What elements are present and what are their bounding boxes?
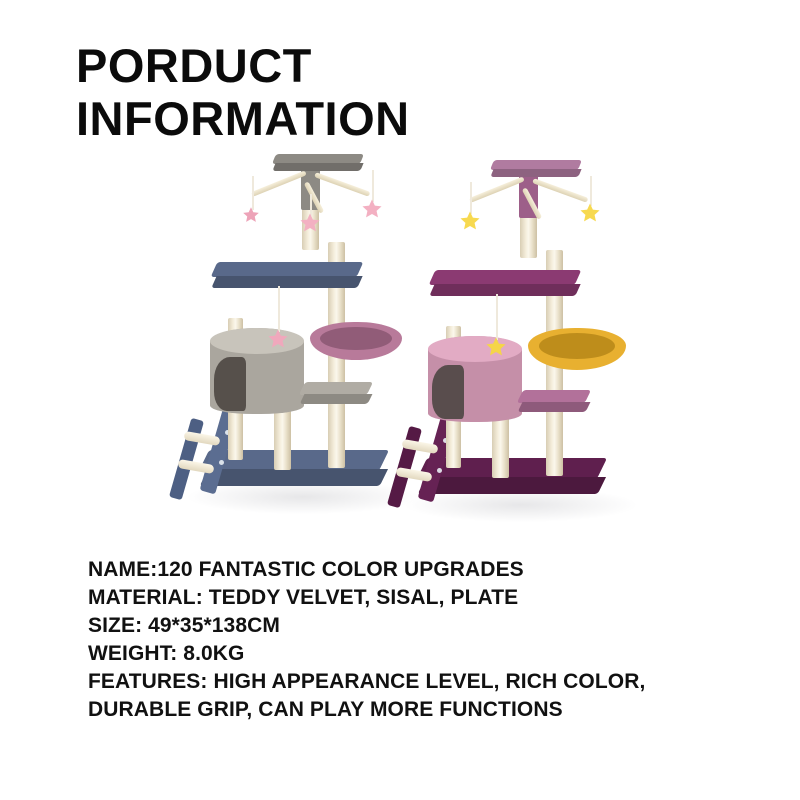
bowl-bed — [528, 328, 626, 370]
spec-line-name: NAME:120 FANTASTIC COLOR UPGRADES — [88, 556, 728, 584]
ladder-rail-outer — [169, 418, 204, 500]
toy-string — [496, 294, 498, 340]
spec-line-weight: WEIGHT: 8.0KG — [88, 640, 728, 668]
star-toy-yellow — [579, 202, 601, 224]
step-shelf — [520, 390, 588, 412]
page-title-line-1: PORDUCT — [76, 42, 736, 89]
star-toy-pink — [267, 328, 289, 350]
top-sisal-post — [520, 214, 537, 258]
spec-line-features: FEATURES: HIGH APPEARANCE LEVEL, RICH CO… — [88, 668, 728, 696]
step-shelf — [302, 382, 370, 404]
product-image — [0, 150, 800, 530]
ladder-screw — [219, 460, 224, 465]
toy-arm-right — [532, 178, 588, 203]
mid-shelf — [214, 262, 360, 288]
product-specs: NAME:120 FANTASTIC COLOR UPGRADES MATERI… — [88, 556, 728, 724]
toy-string — [252, 176, 254, 210]
star-toy-yellow — [485, 336, 507, 358]
spec-line-size: SIZE: 49*35*138CM — [88, 612, 728, 640]
spec-line-features-cont: DURABLE GRIP, CAN PLAY MORE FUNCTIONS — [88, 696, 728, 724]
ladder-screw — [437, 468, 442, 473]
condo-house — [210, 328, 304, 414]
condo-house — [428, 336, 522, 422]
star-toy-pink — [361, 198, 383, 220]
star-toy-yellow — [459, 210, 481, 232]
mid-shelf — [432, 270, 578, 296]
top-platform — [492, 160, 580, 177]
condo-entrance — [432, 365, 464, 418]
page-title-line-2: INFORMATION — [76, 95, 736, 142]
toy-arm-right — [314, 172, 370, 197]
star-toy-pink — [242, 206, 260, 224]
page-title: PORDUCT INFORMATION — [76, 42, 736, 142]
toy-string — [278, 286, 280, 332]
star-toy-pink — [299, 212, 321, 234]
hammock-bed — [310, 322, 402, 360]
toy-arm-left — [251, 170, 307, 196]
spec-line-material: MATERIAL: TEDDY VELVET, SISAL, PLATE — [88, 584, 728, 612]
toy-arm-left — [469, 176, 525, 202]
condo-entrance — [214, 357, 246, 410]
cat-tree-purple-pink — [400, 150, 660, 530]
top-platform — [274, 154, 362, 171]
